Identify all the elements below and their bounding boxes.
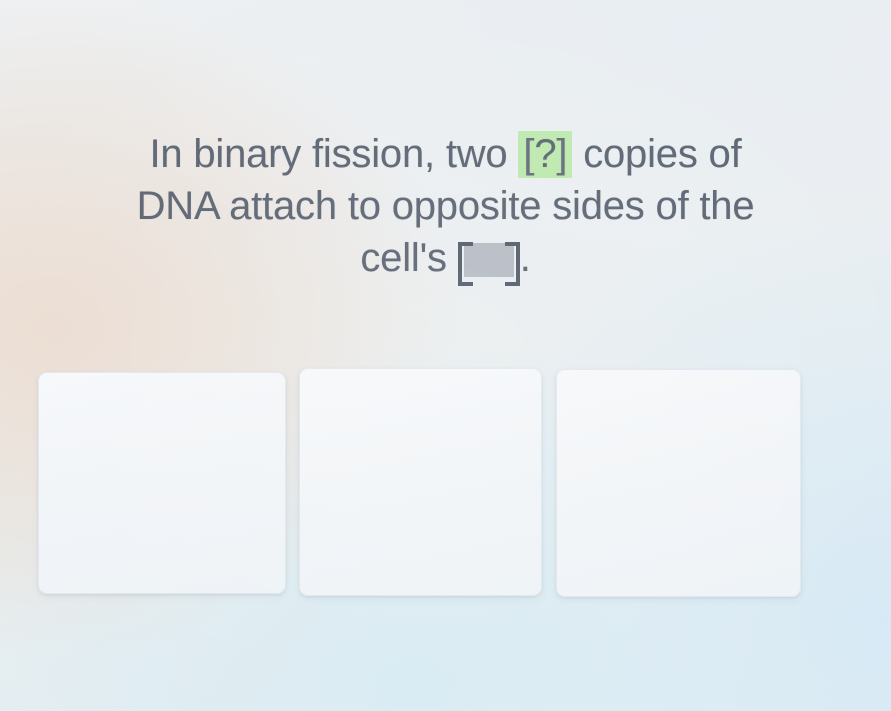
question-blank-empty bbox=[458, 243, 520, 277]
bracket-open: [ bbox=[523, 132, 534, 176]
question-line-2: DNA attach to opposite sides of the bbox=[50, 180, 841, 232]
question-mark: ? bbox=[534, 132, 556, 176]
blank-bracket-close bbox=[505, 242, 520, 286]
answer-option-alternate[interactable]: alternate bbox=[299, 368, 542, 596]
blank-bracket-open bbox=[458, 242, 473, 286]
question-line-1-before: In binary fission, two bbox=[149, 132, 518, 176]
question-line-1-after: copies of bbox=[572, 132, 741, 176]
quiz-screen: In binary fission, two [?] copies of DNA… bbox=[0, 0, 891, 711]
question-line-3-after: . bbox=[520, 236, 531, 280]
answer-option-similar[interactable]: similar bbox=[556, 369, 801, 597]
question-line-1: In binary fission, two [?] copies of bbox=[50, 128, 841, 180]
question-line-3-before: cell's bbox=[360, 236, 457, 280]
bracket-close: ] bbox=[556, 132, 567, 176]
answer-option-exact[interactable]: exact bbox=[38, 372, 286, 594]
question-line-3: cell's . bbox=[50, 232, 841, 284]
question-blank-highlighted: [?] bbox=[518, 131, 572, 178]
question-prompt: In binary fission, two [?] copies of DNA… bbox=[50, 128, 841, 284]
